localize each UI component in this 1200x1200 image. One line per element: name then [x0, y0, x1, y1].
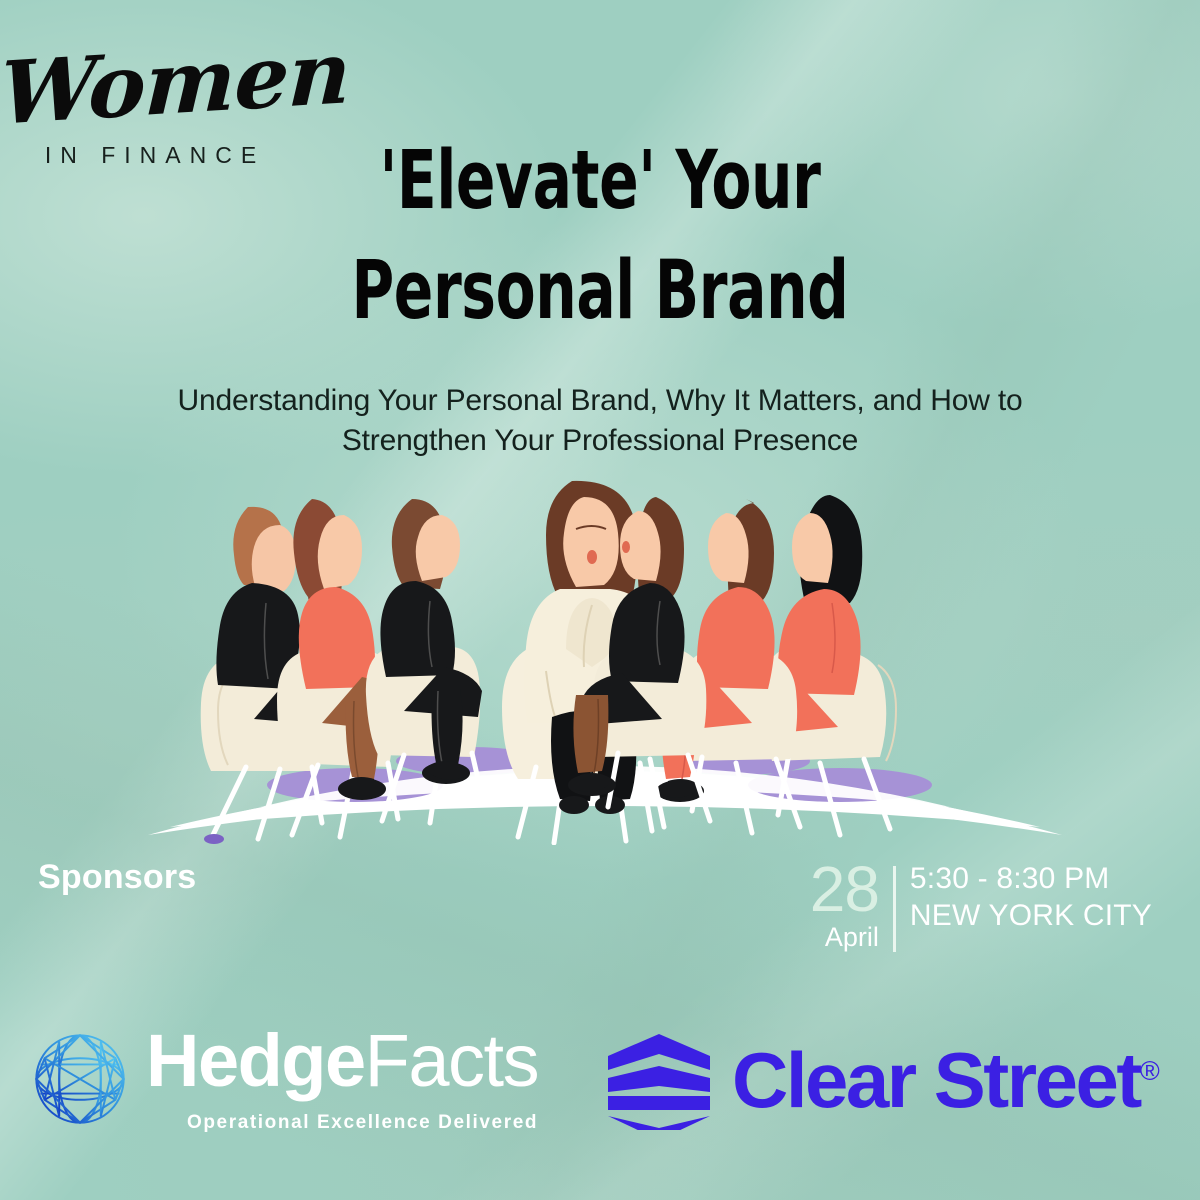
- hedgefacts-name-light: Facts: [365, 1019, 538, 1102]
- event-poster: Women IN FINANCE 'Elevate' Your Personal…: [0, 0, 1200, 1200]
- stacked-chevron-icon: [604, 1030, 714, 1130]
- geodesic-sphere-icon: [28, 1027, 132, 1131]
- registered-trademark-icon: ®: [1140, 1056, 1160, 1086]
- event-subtitle: Understanding Your Personal Brand, Why I…: [60, 381, 1140, 461]
- circle-of-women-illustration: [140, 455, 1070, 845]
- illustration-svg: [140, 455, 1070, 845]
- event-details: 28 April 5:30 - 8:30 PM NEW YORK CITY: [810, 860, 1152, 952]
- title-line-2: Personal Brand: [120, 236, 1080, 346]
- title-line-1: 'Elevate' Your: [120, 126, 1080, 236]
- clear-street-name: Clear Street: [732, 1036, 1140, 1124]
- event-month: April: [810, 923, 879, 951]
- page-title: 'Elevate' Your Personal Brand: [120, 126, 1080, 346]
- date-block: 28 April: [810, 860, 893, 951]
- clear-street-wordmark: Clear Street®: [732, 1041, 1160, 1119]
- time-location-block: 5:30 - 8:30 PM NEW YORK CITY: [896, 860, 1152, 934]
- sponsor-logos: HedgeFacts Operational Excellence Delive…: [0, 1018, 1200, 1188]
- hedgefacts-name-bold: Hedge: [146, 1019, 365, 1102]
- sponsor-hedgefacts[interactable]: HedgeFacts Operational Excellence Delive…: [28, 1024, 538, 1134]
- event-time: 5:30 - 8:30 PM: [910, 860, 1152, 897]
- hedgefacts-tagline: Operational Excellence Delivered: [146, 1112, 538, 1134]
- hedgefacts-name: HedgeFacts: [146, 1024, 538, 1098]
- subtitle-line-1: Understanding Your Personal Brand, Why I…: [178, 384, 1023, 417]
- hedgefacts-wordmark: HedgeFacts Operational Excellence Delive…: [146, 1024, 538, 1134]
- event-day: 28: [810, 860, 879, 919]
- event-location: NEW YORK CITY: [910, 897, 1152, 934]
- sponsor-clear-street[interactable]: Clear Street®: [604, 1030, 1160, 1130]
- brand-script-name: Women: [0, 34, 312, 135]
- subtitle-line-2: Strengthen Your Professional Presence: [342, 424, 858, 457]
- sponsors-heading: Sponsors: [38, 858, 196, 897]
